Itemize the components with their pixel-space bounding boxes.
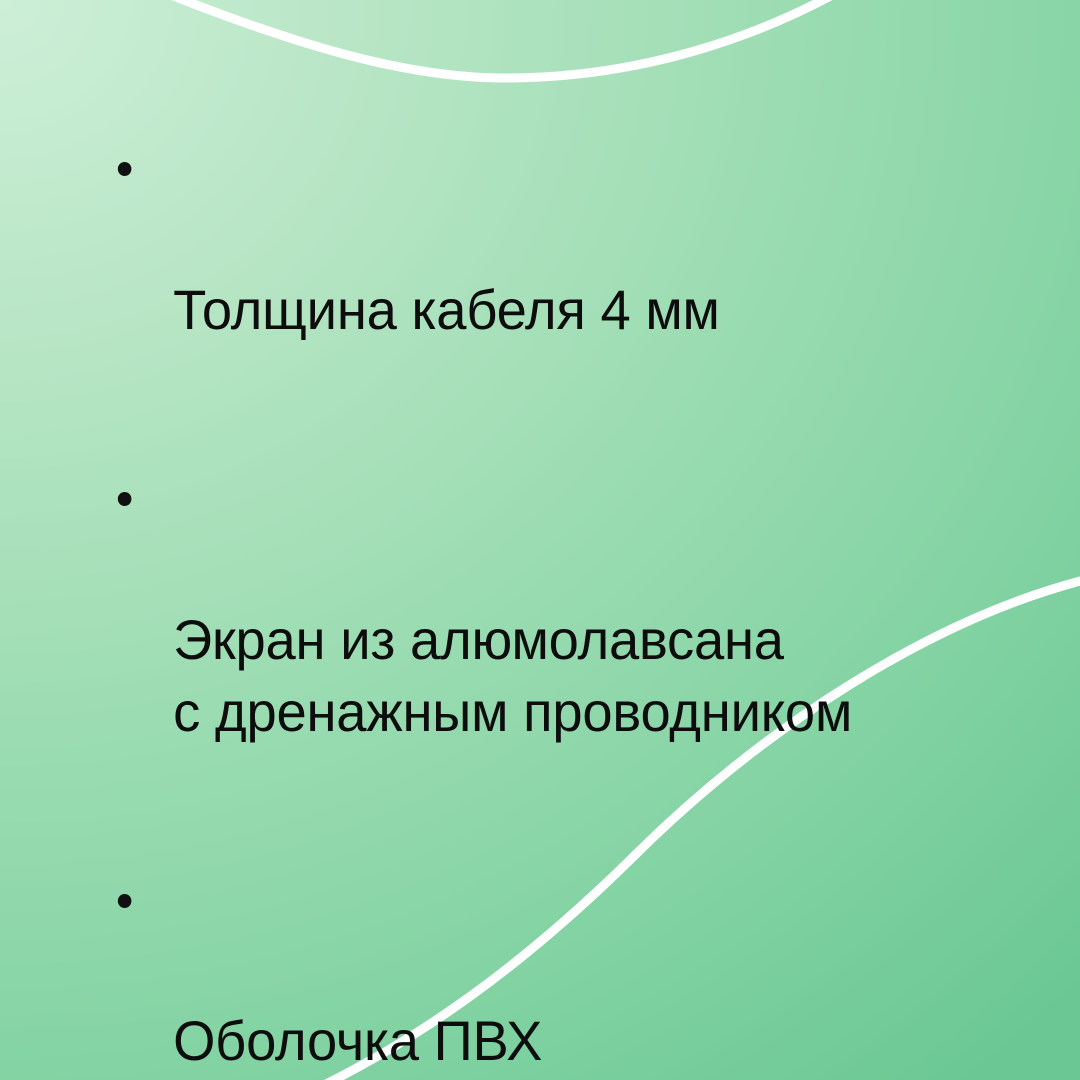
list-item: Оболочка ПВХ [112,862,985,1080]
top-arc-line [168,0,845,78]
bullet-icon [118,162,132,176]
list-item-label: Толщина кабеля 4 мм [173,274,985,346]
promo-slide: Толщина кабеля 4 мм Экран из алюмолавсан… [0,0,1080,1080]
bullet-icon [118,492,132,506]
list-item-label: Оболочка ПВХ [173,1005,985,1077]
list-item: Толщина кабеля 4 мм [112,130,985,418]
feature-list: Толщина кабеля 4 мм Экран из алюмолавсан… [112,130,1012,1080]
bullet-icon [118,894,132,908]
list-item-label: Экран из алюмолавсана с дренажным провод… [173,604,985,748]
list-item: Экран из алюмолавсана с дренажным провод… [112,460,985,820]
